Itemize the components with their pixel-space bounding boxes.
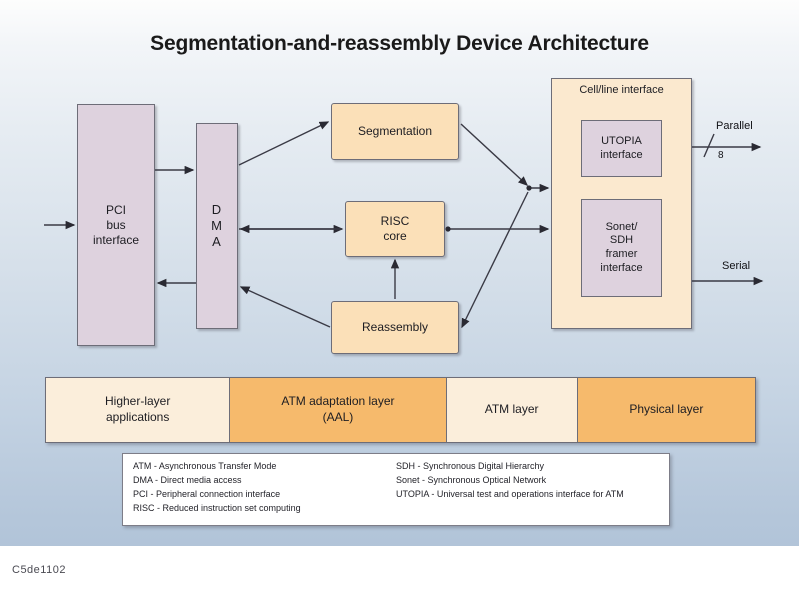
- label-parallel: Parallel: [716, 120, 753, 132]
- legend-column-right: SDH - Synchronous Digital Hierarchy Sone…: [396, 460, 659, 519]
- block-utopia-interface[interactable]: UTOPIA interface: [581, 120, 662, 177]
- risc-output-node: [445, 226, 450, 231]
- legend-item: DMA - Direct media access: [133, 474, 396, 488]
- block-reassembly[interactable]: Reassembly: [331, 301, 459, 354]
- layer-cell-physical-layer[interactable]: Physical layer: [578, 378, 755, 442]
- dma-line-2: M: [211, 218, 223, 234]
- layer-cell-atm-adaptation-layer[interactable]: ATM adaptation layer (AAL): [230, 378, 446, 442]
- dma-line-3: A: [211, 234, 223, 250]
- legend-item: SDH - Synchronous Digital Hierarchy: [396, 460, 659, 474]
- dma-line-1: D: [211, 202, 223, 218]
- pci-line-1: PCI: [93, 203, 139, 218]
- layer-3-line-1: Physical layer: [629, 402, 703, 418]
- layer-1-line-1: ATM adaptation layer: [281, 394, 394, 408]
- block-dma[interactable]: D M A: [196, 123, 238, 329]
- legend-box: ATM - Asynchronous Transfer Mode DMA - D…: [122, 453, 670, 526]
- pci-line-3: interface: [93, 233, 139, 248]
- layer-2-line-1: ATM layer: [485, 402, 539, 418]
- layer-cell-atm-layer[interactable]: ATM layer: [447, 378, 578, 442]
- segmentation-label: Segmentation: [358, 124, 432, 139]
- legend-item: RISC - Reduced instruction set computing: [133, 502, 396, 516]
- cellline-interface-label: Cell/line interface: [551, 84, 692, 96]
- sonet-line-1: Sonet/: [600, 221, 642, 235]
- legend-item: Sonet - Synchronous Optical Network: [396, 474, 659, 488]
- legend-item: PCI - Peripheral connection interface: [133, 488, 396, 502]
- utopia-line-1: UTOPIA: [600, 135, 642, 149]
- sonet-line-3: framer: [600, 248, 642, 262]
- block-pci-bus-interface[interactable]: PCI bus interface: [77, 104, 155, 346]
- block-risc-core[interactable]: RISC core: [345, 201, 445, 257]
- block-sonet-sdh-framer-interface[interactable]: Sonet/ SDH framer interface: [581, 199, 662, 297]
- utopia-line-2: interface: [600, 149, 642, 163]
- diagram-canvas: Segmentation-and-reassembly Device Archi…: [0, 0, 799, 590]
- label-serial: Serial: [722, 260, 750, 272]
- label-parallel-width: 8: [718, 150, 724, 161]
- protocol-layer-bar: Higher-layer applications ATM adaptation…: [45, 377, 756, 443]
- layer-1-line-2: (AAL): [323, 410, 354, 424]
- layer-cell-higher-layer-applications[interactable]: Higher-layer applications: [46, 378, 230, 442]
- sonet-line-4: interface: [600, 262, 642, 276]
- sonet-line-2: SDH: [600, 234, 642, 248]
- layer-0-line-1: Higher-layer: [105, 394, 170, 408]
- legend-item: UTOPIA - Universal test and operations i…: [396, 488, 659, 502]
- signal-junction-node: [526, 185, 531, 190]
- footer-strip: C5de1102: [0, 546, 799, 590]
- risc-line-1: RISC: [381, 214, 410, 229]
- block-segmentation[interactable]: Segmentation: [331, 103, 459, 160]
- risc-line-2: core: [381, 229, 410, 244]
- layer-0-line-2: applications: [106, 410, 169, 424]
- legend-column-left: ATM - Asynchronous Transfer Mode DMA - D…: [133, 460, 396, 519]
- reassembly-label: Reassembly: [362, 320, 428, 335]
- pci-line-2: bus: [93, 218, 139, 233]
- figure-id: C5de1102: [12, 564, 66, 576]
- legend-item: ATM - Asynchronous Transfer Mode: [133, 460, 396, 474]
- page-title: Segmentation-and-reassembly Device Archi…: [0, 32, 799, 56]
